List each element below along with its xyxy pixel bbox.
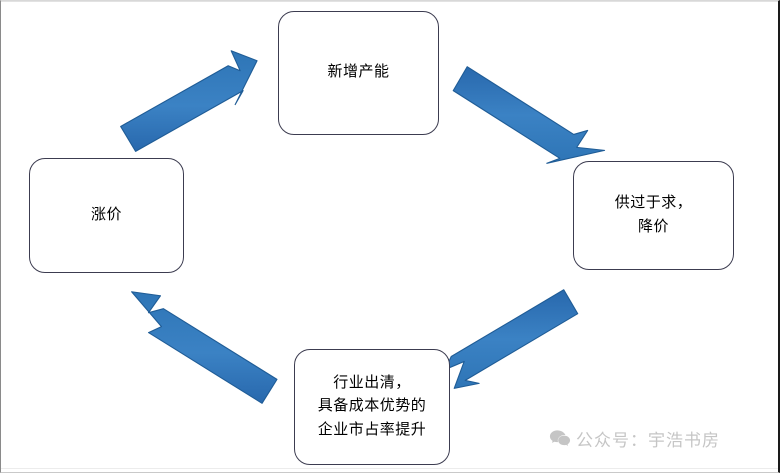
watermark-text: 公众号：宇浩书房: [576, 426, 720, 451]
arrow-price-up-to-new-capacity: [121, 51, 257, 152]
arrow-new-capacity-to-oversupply: [453, 67, 604, 164]
frame-top-divider: [1, 1, 778, 2]
watermark: 公众号：宇浩书房: [549, 426, 720, 451]
node-industry-clearing-label: 行业出清， 具备成本优势的 企业市占率提升: [312, 372, 433, 442]
node-price-increase[interactable]: 涨价: [29, 158, 184, 273]
arrow-industry-clearing-to-price-up: [132, 292, 277, 404]
node-new-capacity-label: 新增产能: [321, 61, 395, 84]
diagram-canvas: 新增产能 供过于求， 降价 行业出清， 具备成本优势的 企业市占率提升 涨价 公…: [0, 0, 780, 473]
node-industry-clearing[interactable]: 行业出清， 具备成本优势的 企业市占率提升: [294, 349, 450, 465]
node-oversupply-price-cut[interactable]: 供过于求， 降价: [573, 161, 734, 270]
node-new-capacity[interactable]: 新增产能: [278, 11, 439, 135]
arrow-oversupply-to-industry-clearing: [445, 290, 577, 389]
frame-bottom-divider: [1, 468, 778, 469]
node-price-increase-label: 涨价: [85, 204, 128, 227]
node-oversupply-price-cut-label: 供过于求， 降价: [609, 192, 699, 239]
wechat-icon: [549, 429, 571, 449]
